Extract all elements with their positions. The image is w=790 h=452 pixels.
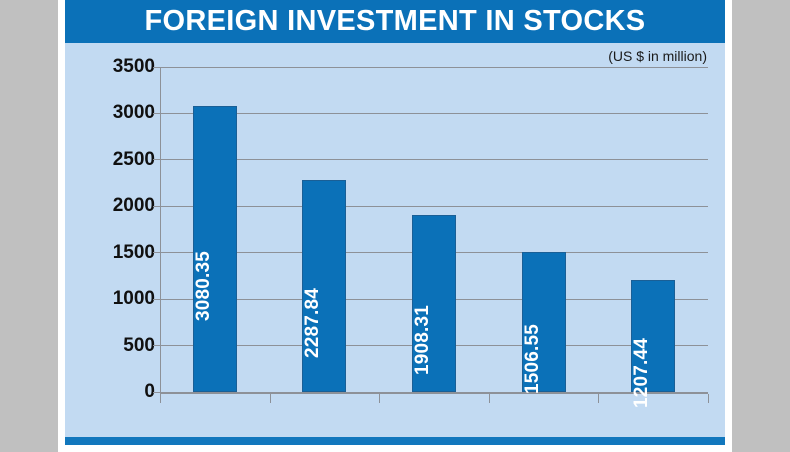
x-axis-tick-mark <box>708 394 709 403</box>
chart-title-bar: FOREIGN INVESTMENT IN STOCKS <box>65 0 725 43</box>
x-axis-tick-mark <box>379 394 380 403</box>
bar[interactable]: 1908.31 <box>412 215 456 392</box>
chart-title: FOREIGN INVESTMENT IN STOCKS <box>65 0 725 43</box>
bar-value-label: 3080.35 <box>193 251 215 321</box>
y-axis-tick-mark <box>153 345 160 346</box>
bar-slot: 2287.84 <box>270 43 380 392</box>
chart-plot-wrapper: 0500100015002000250030003500 3080.352287… <box>65 43 725 437</box>
bar-value-label: 1908.31 <box>412 305 434 375</box>
y-axis-tick-mark <box>153 113 160 114</box>
y-axis-tick-mark <box>153 299 160 300</box>
plot-area: 3080.352287.841908.311506.551207.44 <box>160 43 708 437</box>
y-axis-tick-label: 3500 <box>85 56 155 78</box>
bar-value-label: 2287.84 <box>302 288 324 358</box>
y-axis-tick-label: 1500 <box>85 242 155 264</box>
bar-slot: 1207.44 <box>598 43 708 392</box>
x-axis-tick-mark <box>489 394 490 403</box>
bar[interactable]: 2287.84 <box>302 180 346 392</box>
chart-card: FOREIGN INVESTMENT IN STOCKS (US $ in mi… <box>65 0 725 445</box>
y-axis-tick-label: 0 <box>85 381 155 403</box>
bar-slot: 1506.55 <box>489 43 599 392</box>
bar-slot: 3080.35 <box>160 43 270 392</box>
y-axis-tick-label: 2000 <box>85 195 155 217</box>
x-axis-tick-mark <box>598 394 599 403</box>
chart-bottom-accent-bar <box>65 437 725 445</box>
y-axis-labels: 0500100015002000250030003500 <box>65 43 155 437</box>
y-axis-tick-label: 3000 <box>85 102 155 124</box>
chart-card-frame: FOREIGN INVESTMENT IN STOCKS (US $ in mi… <box>58 0 732 452</box>
x-axis-tick-mark <box>270 394 271 403</box>
y-axis-tick-label: 1000 <box>85 288 155 310</box>
y-axis-tick-label: 500 <box>85 335 155 357</box>
bar-slot: 1908.31 <box>379 43 489 392</box>
y-axis-tick-mark <box>153 392 160 393</box>
y-axis-tick-mark <box>153 206 160 207</box>
bar[interactable]: 1506.55 <box>522 252 566 392</box>
bar[interactable]: 3080.35 <box>193 106 237 392</box>
screenshot-root: FOREIGN INVESTMENT IN STOCKS (US $ in mi… <box>0 0 790 452</box>
bar-value-label: 1506.55 <box>522 324 544 394</box>
bars-layer: 3080.352287.841908.311506.551207.44 <box>160 43 708 394</box>
y-axis-tick-mark <box>153 67 160 68</box>
x-axis-tick-mark <box>160 394 161 403</box>
y-axis-tick-mark <box>153 159 160 160</box>
bar[interactable]: 1207.44 <box>631 280 675 392</box>
x-axis-ticks <box>160 394 708 406</box>
y-axis-tick-mark <box>153 252 160 253</box>
y-axis-tick-label: 2500 <box>85 149 155 171</box>
